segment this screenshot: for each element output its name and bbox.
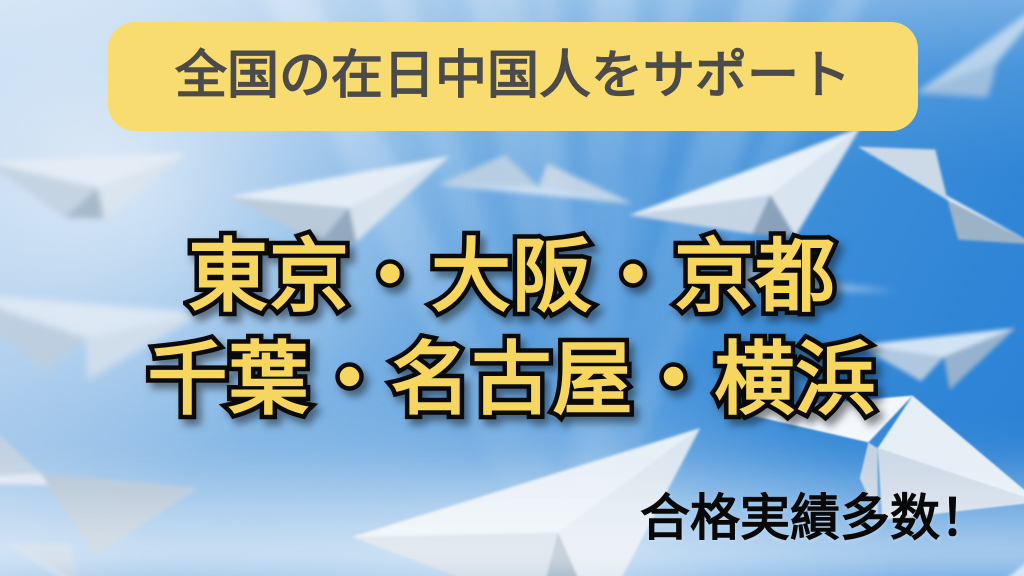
banner-label: 全国の在日中国人をサポート (175, 50, 851, 104)
headline-line-1: 東京・大阪・京都 (0, 232, 1024, 322)
headline-line-2: 千葉・名古屋・横浜 (0, 335, 1024, 425)
headline-banner: 全国の在日中国人をサポート (108, 22, 918, 131)
headline-group: 東京・大阪・京都 千葉・名古屋・横浜 (0, 232, 1024, 424)
promo-slide: 全国の在日中国人をサポート 東京・大阪・京都 千葉・名古屋・横浜 合格実績多数！ (0, 0, 1024, 576)
tagline-text: 合格実績多数！ (640, 491, 990, 546)
